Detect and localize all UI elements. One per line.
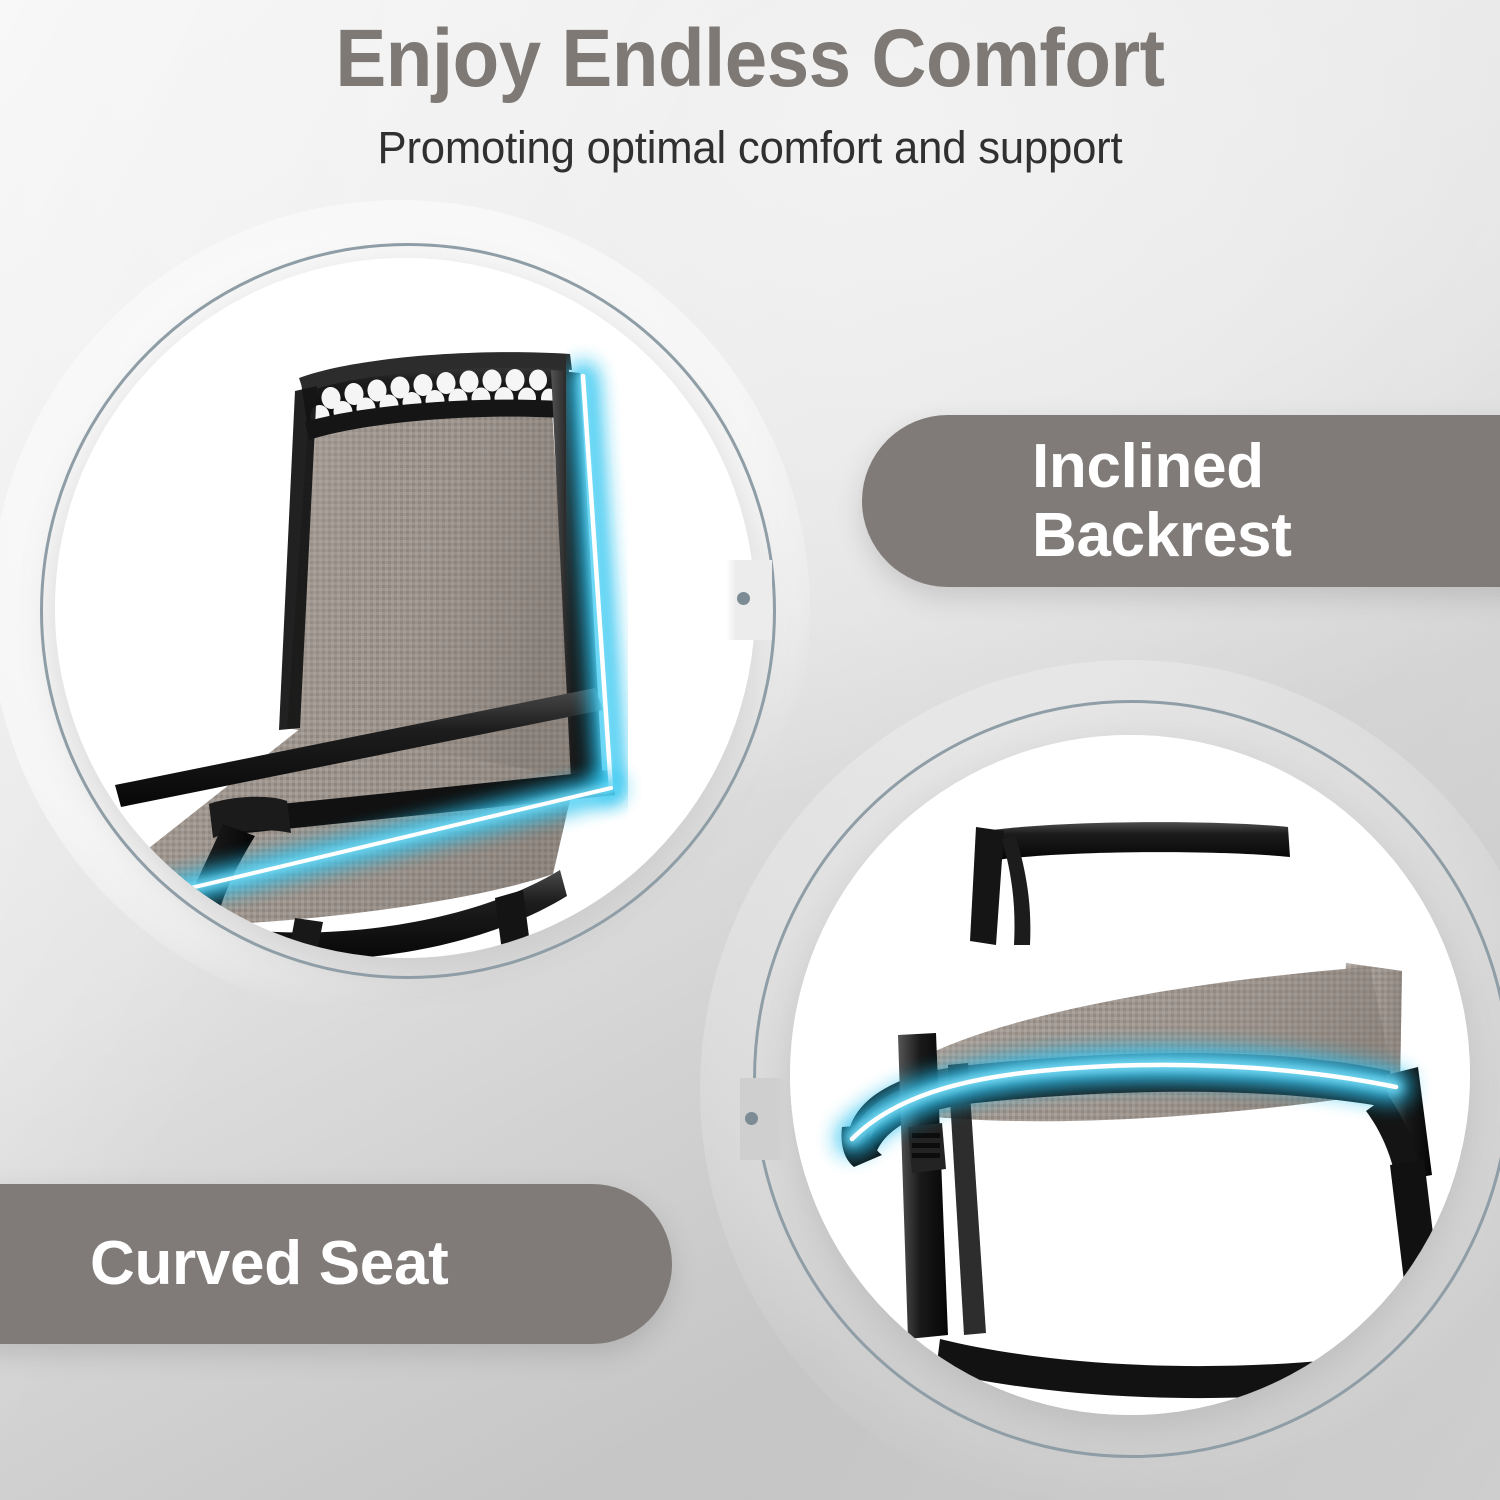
dot-icon-2 bbox=[745, 1112, 758, 1125]
chair-backrest-illustration bbox=[55, 258, 755, 958]
feature-photo-curved-seat bbox=[790, 735, 1470, 1415]
feature-label-line1: Inclined bbox=[1032, 432, 1292, 501]
feature-label-curved-seat: Curved Seat bbox=[0, 1184, 672, 1344]
feature-label-line1: Curved Seat bbox=[90, 1229, 449, 1298]
header: Enjoy Endless Comfort Promoting optimal … bbox=[0, 18, 1500, 174]
page-subtitle: Promoting optimal comfort and support bbox=[23, 122, 1478, 174]
dot-icon-1 bbox=[737, 592, 750, 605]
chair-seat-illustration bbox=[790, 735, 1470, 1415]
feature-photo-inclined-backrest bbox=[55, 258, 755, 958]
page-title: Enjoy Endless Comfort bbox=[53, 18, 1448, 100]
feature-label-text-1: Inclined Backrest bbox=[1032, 432, 1292, 571]
feature-label-text-2: Curved Seat bbox=[90, 1229, 449, 1298]
feature-label-inclined-backrest: Inclined Backrest bbox=[862, 415, 1500, 587]
feature-label-line2: Backrest bbox=[1032, 501, 1292, 570]
infographic-canvas: Enjoy Endless Comfort Promoting optimal … bbox=[0, 0, 1500, 1500]
